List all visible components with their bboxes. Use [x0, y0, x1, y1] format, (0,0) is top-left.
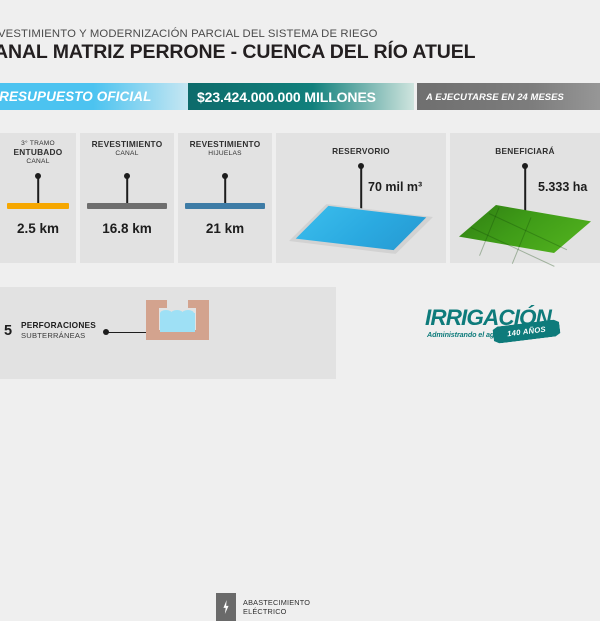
measure-bar	[7, 203, 69, 209]
measure-bar	[87, 203, 167, 209]
stat-header: REVESTIMIENTO HIJUELAS	[178, 140, 272, 158]
pointer-stem	[126, 178, 128, 206]
drill-label-small: SUBTERRÁNEAS	[21, 331, 96, 340]
page-title: CANAL MATRIZ PERRONE - CUENCA DEL RÍO AT…	[0, 41, 475, 64]
stat-header-line2: REVESTIMIENTO	[80, 140, 174, 150]
stat-panel-entubado: 3° TRAMO ENTUBADO CANAL 2.5 km	[0, 133, 76, 263]
badge-bar: PRESUPUESTO OFICIAL $23.424.000.000 MILL…	[0, 83, 600, 110]
water-wave	[182, 310, 194, 317]
reservoir-water	[293, 205, 429, 251]
stat-panel-revestimiento-canal: REVESTIMIENTO CANAL 16.8 km	[80, 133, 174, 263]
logo-ribbon-text: 140 AÑOS	[507, 325, 547, 339]
irrigacion-logo: IRRIGACIÓN 140 AÑOS Administrando el agu…	[425, 305, 560, 347]
stat-header-line3: HIJUELAS	[178, 150, 272, 158]
stat-header-line2: REVESTIMIENTO	[178, 140, 272, 150]
electric-label-line2: ELÉCTRICO	[243, 607, 310, 616]
header: REVESTIMIENTO Y MODERNIZACIÓN PARCIAL DE…	[0, 0, 600, 78]
pointer-connector-line	[108, 332, 148, 334]
badge-execution-term: A EJECUTARSE EN 24 MESES	[417, 83, 600, 110]
pointer-stem	[37, 178, 39, 206]
farmland-shape-icon	[459, 205, 591, 253]
badge-budget-value: $23.424.000.000 MILLONES	[188, 83, 414, 110]
header-subtitle: REVESTIMIENTO Y MODERNIZACIÓN PARCIAL DE…	[0, 28, 378, 40]
stat-header-line2: ENTUBADO	[0, 148, 76, 158]
drill-count: 5	[4, 323, 12, 339]
well-ledge-right	[188, 300, 196, 308]
pointer-stem	[224, 178, 226, 206]
stat-value: 16.8 km	[80, 221, 174, 236]
stat-header-line2: BENEFICIARÁ	[450, 147, 600, 157]
stat-header-line3: CANAL	[80, 150, 174, 158]
well-ledge-left	[159, 300, 167, 308]
lightning-bolt-icon	[222, 600, 230, 614]
stat-value: 5.333 ha	[538, 180, 587, 194]
stat-value: 21 km	[178, 221, 272, 236]
stat-value: 70 mil m³	[368, 180, 422, 194]
water-well-icon	[146, 300, 209, 340]
stat-header: REVESTIMIENTO CANAL	[80, 140, 174, 158]
drill-label-bold: PERFORACIONES	[21, 321, 96, 331]
stat-header-line3: CANAL	[0, 158, 76, 166]
stat-header-line2: RESERVORIO	[276, 147, 446, 157]
reservoir-shape-icon	[287, 201, 435, 257]
drill-label: PERFORACIONES SUBTERRÁNEAS	[21, 321, 96, 340]
stat-header: BENEFICIARÁ	[450, 147, 600, 157]
stat-panel-beneficiara: BENEFICIARÁ 5.333 ha	[450, 133, 600, 263]
measure-bar	[185, 203, 265, 209]
badge-budget-label: PRESUPUESTO OFICIAL	[0, 83, 195, 110]
stats-row: 3° TRAMO ENTUBADO CANAL 2.5 km REVESTIMI…	[0, 133, 600, 263]
stat-panel-revestimiento-hijuelas: REVESTIMIENTO HIJUELAS 21 km	[178, 133, 272, 263]
stat-header: 3° TRAMO ENTUBADO CANAL	[0, 140, 76, 165]
well-water	[160, 313, 195, 332]
electric-label-line1: ABASTECIMIENTO	[243, 598, 310, 607]
electric-supply-box	[216, 593, 236, 621]
electric-supply-label: ABASTECIMIENTO ELÉCTRICO	[243, 598, 310, 616]
stat-panel-reservorio: RESERVORIO 70 mil m³	[276, 133, 446, 263]
logo-tagline: Administrando el agua	[427, 330, 502, 339]
stat-value: 2.5 km	[0, 221, 76, 236]
stat-header: RESERVORIO	[276, 147, 446, 157]
